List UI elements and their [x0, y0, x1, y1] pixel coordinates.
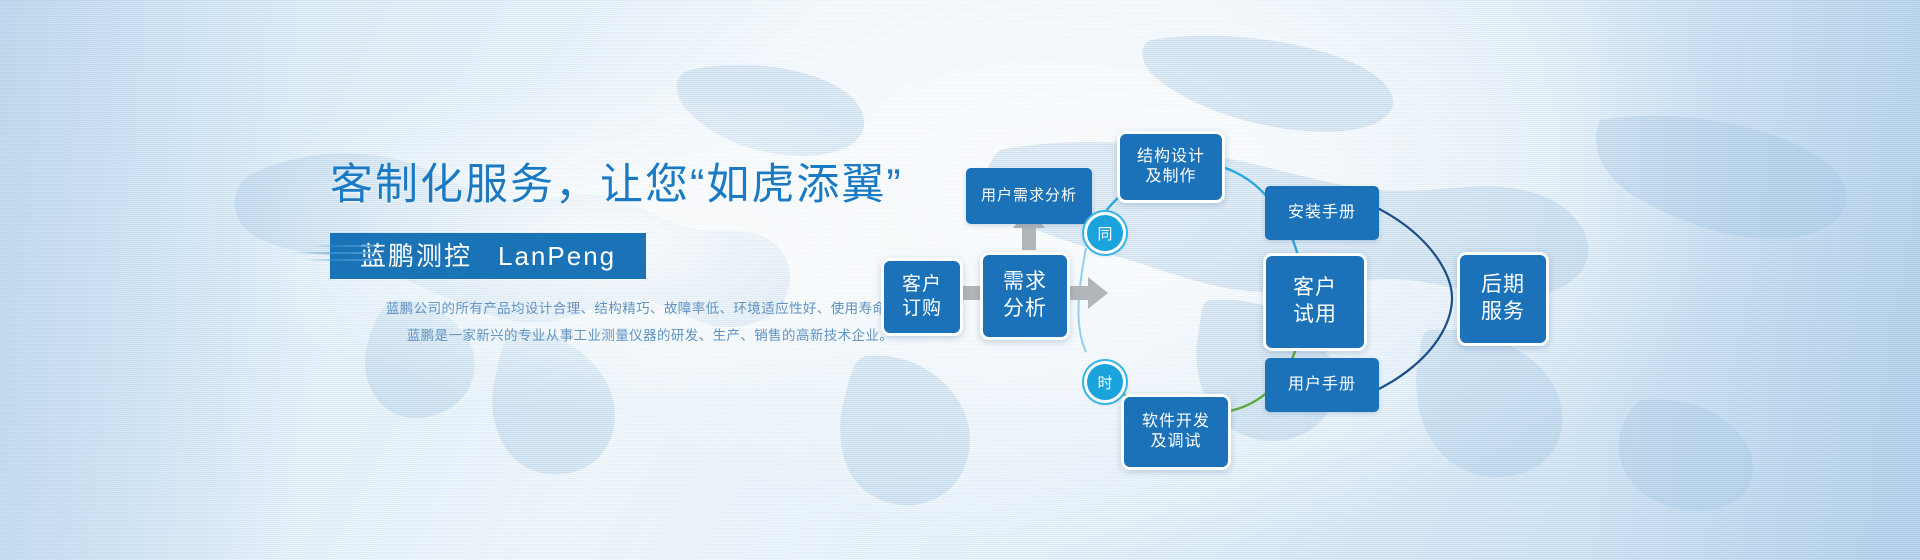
flow-node-requirement-analysis[interactable]: 需求分析 — [980, 252, 1070, 340]
flow-badge-tong: 同 — [1084, 212, 1126, 254]
flow-badge-shi: 时 — [1084, 361, 1126, 403]
flow-node-user-manual[interactable]: 用户手册 — [1265, 358, 1379, 412]
flow-node-label: 用户需求分析 — [981, 186, 1077, 205]
flow-node-software-dev[interactable]: 软件开发及调试 — [1121, 394, 1231, 470]
flow-node-customer-trial[interactable]: 客户试用 — [1263, 253, 1367, 351]
flow-node-user-requirement-analysis[interactable]: 用户需求分析 — [966, 168, 1092, 224]
arc-badge-link — [1079, 248, 1087, 352]
flow-node-label: 后期服务 — [1481, 272, 1525, 326]
flow-node-label: 需求分析 — [1003, 269, 1047, 323]
flow-node-label: 客户试用 — [1293, 275, 1337, 329]
flow-node-label: 安装手册 — [1288, 203, 1356, 223]
banner-stage: 客制化服务，让您“如虎添翼” 蓝鹏测控LanPeng 蓝鹏公司的所有产品均设计合… — [0, 0, 1920, 560]
flow-node-structure-design[interactable]: 结构设计及制作 — [1117, 131, 1225, 203]
flow-node-label: 结构设计及制作 — [1137, 147, 1205, 188]
process-flow-diagram: 用户需求分析结构设计及制作安装手册客户订购需求分析客户试用后期服务用户手册软件开… — [0, 0, 1920, 560]
flow-node-after-service[interactable]: 后期服务 — [1457, 252, 1549, 346]
arrow-analysis-to-design — [1066, 277, 1108, 309]
flow-node-install-manual[interactable]: 安装手册 — [1265, 186, 1379, 240]
flow-node-label: 客户订购 — [902, 273, 942, 322]
flow-node-label: 软件开发及调试 — [1142, 412, 1210, 453]
flow-node-label: 用户手册 — [1288, 375, 1356, 395]
flow-node-customer-order[interactable]: 客户订购 — [881, 258, 963, 336]
